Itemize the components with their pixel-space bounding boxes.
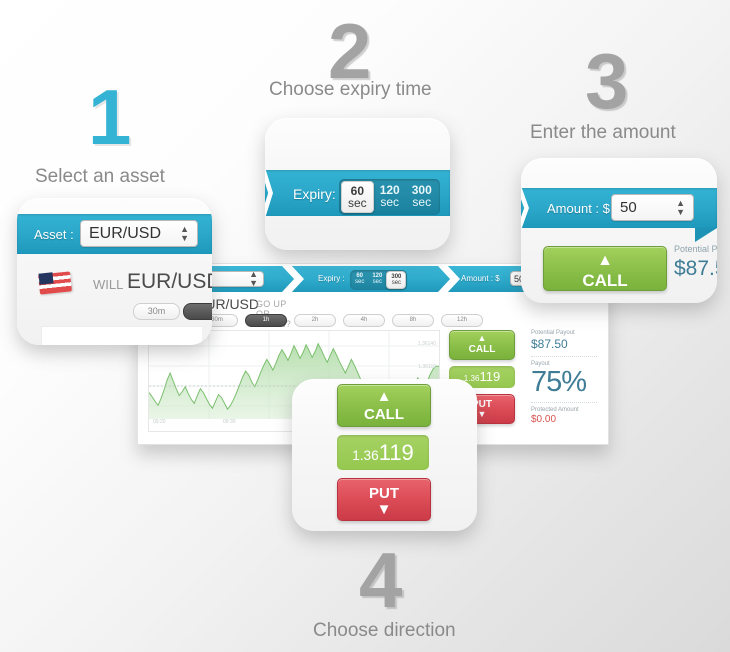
expiry-option-120[interactable]: 120 sec [374, 181, 406, 213]
toolbar-expiry-option-60[interactable]: 60 sec [351, 271, 368, 289]
range-4h[interactable]: 4h [343, 314, 385, 327]
expiry-strip: Expiry: 60 sec 120 sec 300 sec [265, 170, 450, 216]
call-button-label: CALL [450, 344, 514, 355]
trade-summary: Potential Payout $87.50 Payout 75% Prote… [531, 330, 597, 425]
potential-payout-value: $87.50 [531, 337, 597, 351]
step-3-number: 3 [585, 42, 626, 120]
expiry-option-group: 60 sec 120 sec 300 sec [339, 179, 440, 215]
range-1h[interactable]: 1h [245, 314, 287, 327]
callout-payout-block: Potential Payou $87.50 [674, 244, 717, 281]
amount-label: Amount : $ [547, 201, 610, 216]
price-big: 119 [479, 369, 500, 384]
callout4-price-pill: 1.36119 [337, 435, 429, 470]
callout-range-30m[interactable]: 30m [133, 303, 180, 320]
callout-choose-expiry: Expiry: 60 sec 120 sec 300 sec [265, 118, 450, 250]
expiry-unit: sec [372, 279, 382, 285]
chevron-up-icon: ▲ [338, 389, 430, 404]
callout4-call-button[interactable]: ▲ CALL [337, 384, 431, 427]
potential-payout-label: Potential Payout [531, 330, 597, 336]
callout-range-1h[interactable] [183, 303, 212, 320]
callout4-put-button[interactable]: PUT ▼ [337, 478, 431, 521]
range-8h[interactable]: 8h [392, 314, 434, 327]
potential-payout-label: Potential Payou [674, 244, 717, 254]
tutorial-graphic: USD ▲▼ Expiry : 60 sec 120 sec 300 sec [0, 0, 730, 652]
callout-chart-peek [41, 326, 202, 345]
expiry-option-60[interactable]: 60 sec [341, 181, 374, 213]
callout-call-button[interactable]: ▲ CALL [543, 246, 667, 291]
amount-input[interactable]: 50 ▲▼ [611, 194, 694, 221]
usa-flag-canton [38, 272, 53, 284]
asset-label: Asset : [34, 227, 74, 242]
chevron-up-icon: ▲ [450, 334, 514, 343]
amount-strip-tail [695, 228, 717, 242]
callout-select-asset: Asset : EUR/USD ▲▼ WILL EUR/USD 30m [17, 198, 212, 345]
expiry-unit: sec [348, 197, 367, 209]
protected-amount-value: $0.00 [531, 414, 597, 425]
step-4-caption: Choose direction [313, 620, 456, 642]
price-small: 1.36 [352, 448, 379, 463]
chevron-down-icon: ▼ [338, 502, 430, 517]
chevron-up-icon: ▲ [544, 253, 666, 269]
strip-chevron-icon [521, 188, 529, 228]
range-12h[interactable]: 12h [441, 314, 483, 327]
expiry-label: Expiry: [293, 186, 336, 202]
toolbar-expiry-label: Expiry : [318, 274, 345, 283]
chart-range-group: 30m 1h 2h 4h 8h 12h [196, 314, 486, 327]
toolbar-amount-label: Amount : $ [461, 274, 500, 283]
call-button-label: CALL [544, 271, 666, 291]
payout-value: 75% [531, 368, 597, 397]
toolbar-chevron-2 [438, 266, 460, 292]
amount-value: 50 [620, 199, 637, 216]
call-button-label: CALL [338, 406, 430, 423]
callout-enter-amount: Amount : $ 50 ▲▼ ▲ CALL Potential Payou … [521, 158, 717, 303]
question-prefix: WILL [93, 277, 123, 292]
step-1-number: 1 [88, 78, 129, 156]
chevron-updown-icon: ▲▼ [676, 199, 685, 217]
y-tick-1: 1.36110 [418, 364, 436, 370]
range-2h[interactable]: 2h [294, 314, 336, 327]
strip-chevron-icon [265, 170, 273, 216]
chevron-updown-icon: ▲▼ [180, 225, 189, 243]
potential-payout-value: $87.50 [674, 257, 717, 281]
step-4-number: 4 [359, 541, 400, 619]
toolbar-expiry-option-120[interactable]: 120 sec [368, 271, 386, 289]
price-big: 119 [379, 440, 414, 465]
protected-amount-label: Protected Amount [531, 407, 597, 413]
asset-select-value: EUR/USD [89, 225, 161, 243]
call-button[interactable]: ▲ CALL [449, 330, 515, 360]
amount-strip: Amount : $ 50 ▲▼ [521, 188, 717, 228]
chevron-updown-icon: ▲▼ [249, 270, 258, 288]
asset-select[interactable]: EUR/USD ▲▼ [80, 220, 198, 247]
toolbar-chevron-1 [282, 266, 304, 292]
asset-strip: Asset : EUR/USD ▲▼ [17, 214, 212, 254]
toolbar-expiry-option-300[interactable]: 300 sec [386, 271, 406, 289]
step-3-caption: Enter the amount [530, 122, 676, 144]
expiry-unit: sec [380, 196, 400, 208]
expiry-unit: sec [412, 196, 432, 208]
expiry-unit: sec [391, 280, 401, 286]
step-2-caption: Choose expiry time [269, 79, 432, 101]
y-tick-0: 1.36140 [418, 341, 436, 347]
question-asset: EUR/USD [127, 270, 212, 294]
step-1-caption: Select an asset [35, 166, 165, 188]
expiry-option-300[interactable]: 300 sec [406, 181, 438, 213]
x-tick-1: 09:30 [223, 419, 236, 425]
put-button-label: PUT [338, 485, 430, 502]
expiry-unit: sec [355, 279, 364, 285]
x-tick-0: 09:20 [153, 419, 166, 425]
callout-choose-direction: ▲ CALL 1.36119 PUT ▼ [292, 379, 477, 531]
toolbar-expiry-group: 60 sec 120 sec 300 sec [350, 270, 407, 290]
